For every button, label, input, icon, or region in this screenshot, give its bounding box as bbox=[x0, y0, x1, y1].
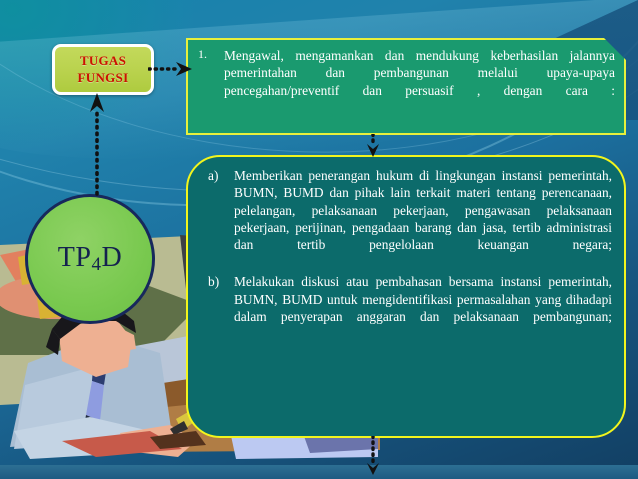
callout-bottom-text-b: Melakukan diskusi atau pembahasan bersam… bbox=[234, 273, 612, 342]
callout-bottom-text-a: Memberikan penerangan hukum di lingkunga… bbox=[234, 167, 612, 271]
tp4d-label-suffix: D bbox=[101, 242, 122, 273]
tp4d-label-sub: 4 bbox=[91, 254, 101, 275]
tugas-fungsi-line2: FUNGSI bbox=[78, 70, 129, 87]
tugas-fungsi-line1: TUGAS bbox=[80, 53, 126, 70]
callout-bottom-item-b: b) Melakukan diskusi atau pembahasan ber… bbox=[194, 273, 612, 342]
tugas-fungsi-label[interactable]: TUGAS FUNGSI bbox=[52, 44, 154, 95]
dotted-arrow-up-icon bbox=[88, 92, 106, 196]
callout-bottom-item-a: a) Memberikan penerangan hukum di lingku… bbox=[194, 167, 612, 271]
bottom-strip bbox=[0, 465, 638, 479]
callout-bottom-marker-a: a) bbox=[194, 167, 234, 271]
dotted-arrow-down-middle-icon bbox=[364, 134, 382, 158]
callout-box-bottom[interactable]: a) Memberikan penerangan hukum di lingku… bbox=[186, 155, 626, 438]
dotted-arrow-right-icon bbox=[148, 60, 194, 78]
callout-top-row: 1. Mengawal, mengamankan dan mendukung k… bbox=[194, 47, 615, 116]
tp4d-label: TP4D bbox=[58, 242, 122, 276]
dotted-arrow-down-bottom-icon bbox=[364, 436, 382, 476]
tp4d-circle[interactable]: TP4D bbox=[25, 194, 155, 324]
callout-top-marker: 1. bbox=[194, 47, 224, 116]
tp4d-label-prefix: TP bbox=[58, 242, 92, 273]
slide-canvas: TUGAS FUNGSI TP4D 1. Mengawal, mengamank… bbox=[0, 0, 638, 479]
callout-box-top[interactable]: 1. Mengawal, mengamankan dan mendukung k… bbox=[186, 38, 626, 135]
callout-top-text: Mengawal, mengamankan dan mendukung kebe… bbox=[224, 47, 615, 116]
callout-bottom-marker-b: b) bbox=[194, 273, 234, 342]
